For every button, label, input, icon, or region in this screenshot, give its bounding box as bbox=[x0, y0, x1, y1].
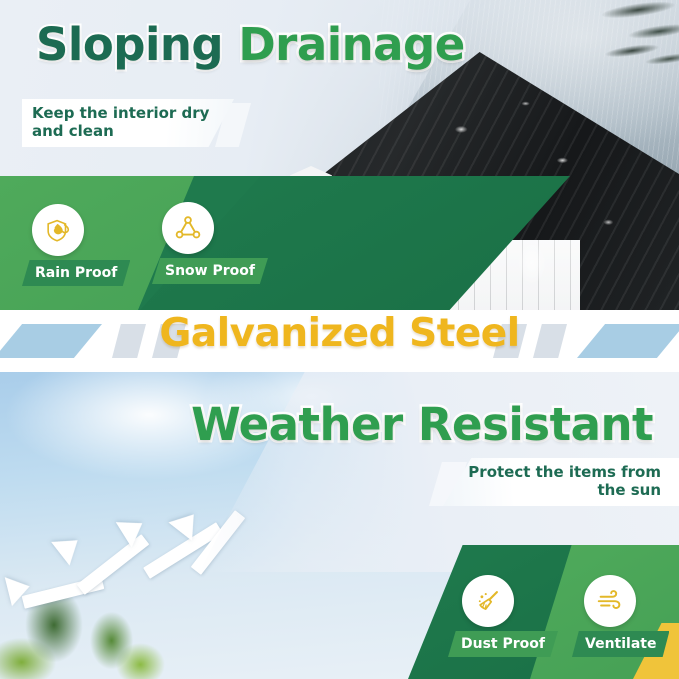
bottom-heading: Weather Resistant bbox=[191, 402, 653, 447]
bottom-badge-bar: Dust Proof Ventilate bbox=[0, 545, 679, 679]
snowflake-triangle-icon bbox=[173, 213, 203, 243]
bottom-subtitle-text: Protect the items from the sun bbox=[451, 463, 661, 500]
dust-proof-label: Dust Proof bbox=[448, 631, 558, 657]
broom-icon bbox=[473, 586, 503, 616]
ventilate-label: Ventilate bbox=[572, 631, 669, 657]
top-subtitle-text: Keep the interior dry and clean bbox=[32, 104, 232, 141]
galvanized-steel-title: Galvanized Steel bbox=[0, 314, 679, 353]
snow-proof-label: Snow Proof bbox=[152, 258, 268, 284]
pine-branch bbox=[528, 0, 679, 110]
snow-proof-icon-circle bbox=[162, 202, 214, 254]
top-heading: Sloping Drainage bbox=[36, 22, 465, 67]
top-heading-word-1: Sloping bbox=[36, 18, 223, 71]
wind-icon bbox=[595, 586, 625, 616]
rain-proof-label: Rain Proof bbox=[22, 260, 130, 286]
rain-proof-icon-circle bbox=[32, 204, 84, 256]
shield-raindrop-icon bbox=[43, 215, 73, 245]
top-feature-section: Sloping Drainage Keep the interior dry a… bbox=[0, 0, 679, 310]
top-badge-bar: Rain Proof Snow Proof bbox=[0, 176, 679, 310]
dust-proof-icon-circle bbox=[462, 575, 514, 627]
ventilate-icon-circle bbox=[584, 575, 636, 627]
product-feature-infographic: Sloping Drainage Keep the interior dry a… bbox=[0, 0, 679, 679]
top-heading-word-2: Drainage bbox=[238, 18, 464, 71]
